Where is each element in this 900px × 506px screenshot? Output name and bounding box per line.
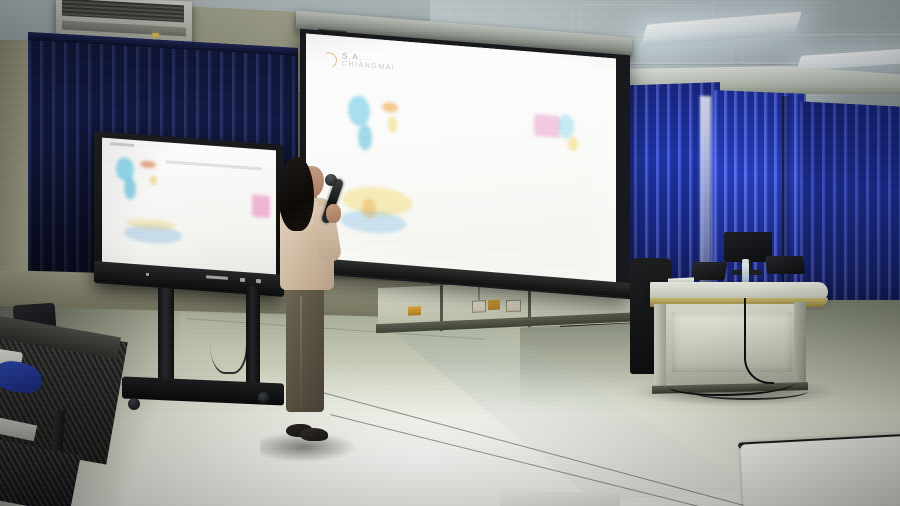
tv-graphic-cyan-2 bbox=[124, 177, 136, 200]
slide-graphic-cyan-3 bbox=[558, 114, 574, 139]
slide-logo: S.A. CHIANGMAI bbox=[322, 51, 395, 73]
slide-graphic-yellow-2 bbox=[568, 137, 578, 152]
tv-graphic-yellow bbox=[150, 175, 157, 186]
power-outlet-center[interactable] bbox=[472, 300, 486, 313]
presenter-trousers bbox=[286, 284, 324, 412]
cart-caster-left bbox=[128, 398, 140, 410]
tv-power-icon[interactable] bbox=[240, 278, 245, 282]
desk-modesty-panel bbox=[672, 312, 792, 372]
tv-led-icon bbox=[146, 273, 149, 276]
slide-graphic-cluster-accent bbox=[362, 198, 376, 219]
tv-graphic-orange bbox=[140, 160, 156, 168]
classroom-scene: ROLL S.A. CHIANGMAI bbox=[0, 0, 900, 506]
ac-status-led-icon bbox=[152, 33, 159, 37]
bottle-cap bbox=[742, 259, 749, 263]
slide-graphic-cyan bbox=[348, 95, 370, 127]
tv-cable bbox=[210, 300, 248, 374]
tv-graphic-magenta bbox=[252, 195, 270, 218]
tv-logo bbox=[206, 275, 228, 280]
slide-graphic-cyan-2 bbox=[358, 124, 372, 151]
power-outlet-left[interactable] bbox=[408, 306, 421, 316]
desk-leg-left bbox=[654, 304, 666, 390]
network-outlet[interactable] bbox=[506, 300, 521, 313]
tv-graphic-textline bbox=[166, 160, 262, 170]
slide-graphic-yellow bbox=[388, 116, 397, 133]
floor-cable-2 bbox=[690, 382, 808, 400]
projector-screen-surface[interactable]: S.A. CHIANGMAI bbox=[306, 34, 616, 291]
tv-cart-column-right bbox=[246, 286, 260, 390]
tv-graphic-toolbar bbox=[110, 142, 134, 147]
slide-graphic-magenta bbox=[534, 114, 560, 138]
presenter-hand bbox=[326, 204, 341, 223]
presenter-shoe-right bbox=[300, 428, 328, 441]
water-bottle[interactable] bbox=[742, 262, 749, 284]
tv-screen-content[interactable] bbox=[102, 138, 276, 277]
white-table-foreground bbox=[740, 435, 900, 506]
cart-caster-right bbox=[258, 392, 269, 403]
slide-graphic-orange bbox=[382, 102, 398, 113]
tv-sensor-icon bbox=[256, 279, 261, 283]
power-outlet-amber[interactable] bbox=[488, 300, 500, 311]
laptop-secondary[interactable] bbox=[765, 256, 805, 274]
slide-heading bbox=[426, 91, 596, 105]
presenter-hair bbox=[279, 157, 314, 231]
laptop[interactable] bbox=[691, 262, 728, 280]
trouser-crease bbox=[300, 296, 302, 408]
slide-logo-icon bbox=[320, 50, 339, 70]
